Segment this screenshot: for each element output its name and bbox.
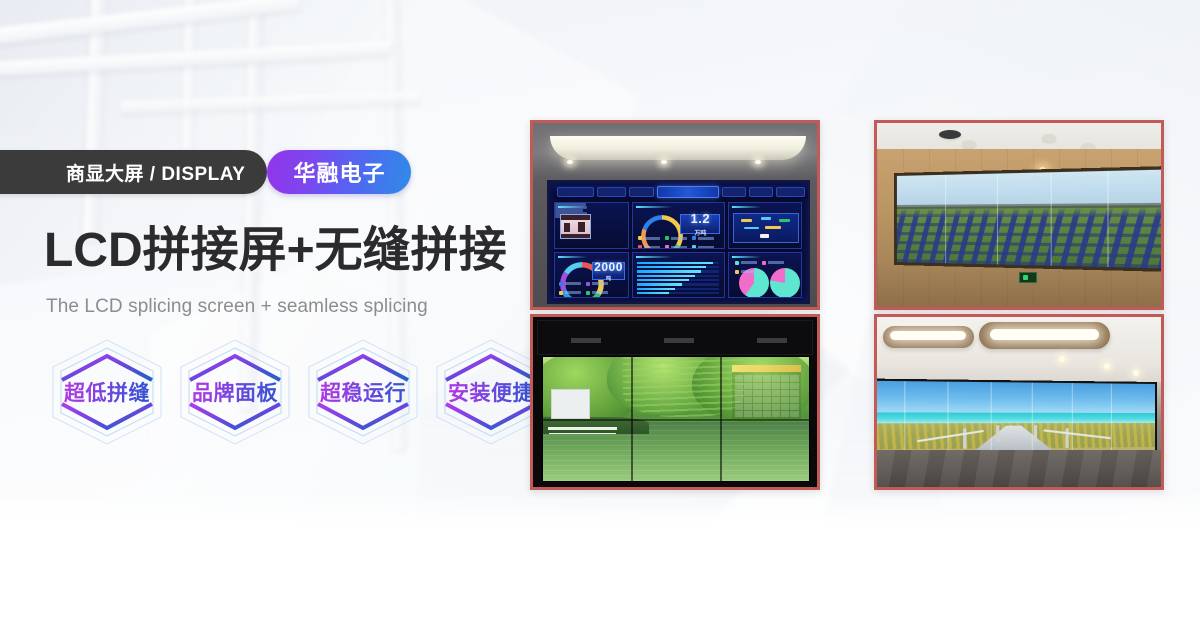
headline-block: 商显大屏 / DISPLAY 华融电子 LCD拼接屏+无缝拼接 The LCD … — [0, 0, 520, 640]
dashboard-topbar — [554, 185, 808, 199]
dashboard-card-info — [554, 202, 628, 248]
photo-willow-lake-wall — [530, 314, 820, 490]
feature-badge: 品牌面板 — [176, 336, 294, 448]
photo-control-room-dashboard: 1.2 万吨 — [530, 120, 820, 310]
dashboard-card-pies — [728, 252, 803, 298]
exit-sign — [1019, 272, 1037, 283]
dashboard-card-kpi-secondary: 2000 吨 — [554, 252, 628, 298]
video-wall-solar — [894, 166, 1161, 273]
dashboard-card-bars — [632, 252, 725, 298]
calendar-overlay — [732, 365, 801, 420]
video-wall-beach — [877, 378, 1156, 461]
product-banner: 商显大屏 / DISPLAY 华融电子 LCD拼接屏+无缝拼接 The LCD … — [0, 0, 1200, 640]
video-wall-lake — [542, 356, 811, 482]
bar-chart — [637, 262, 719, 295]
feature-badge: 超低拼缝 — [48, 336, 166, 448]
photo-beach-boardwalk-wall — [874, 314, 1164, 490]
feature-badge-label: 超低拼缝 — [48, 336, 166, 448]
dashboard-card-flow — [728, 202, 803, 248]
dashboard-card-grid: 1.2 万吨 — [554, 202, 802, 298]
kpi-main: 1.2 万吨 — [680, 214, 720, 234]
brand-tag-primary: 华融电子 — [267, 150, 411, 194]
page-subtitle: The LCD splicing screen + seamless splic… — [46, 296, 428, 318]
feature-badge-label: 超稳运行 — [304, 336, 422, 448]
page-title: LCD拼接屏+无缝拼接 — [44, 227, 507, 275]
feature-badge-label: 品牌面板 — [176, 336, 294, 448]
dashboard-title-bar — [657, 186, 719, 198]
kpi-main-value: 1.2 — [691, 211, 711, 226]
kpi-secondary: 2000 吨 — [592, 262, 626, 280]
feature-badge: 超稳运行 — [304, 336, 422, 448]
photo-wood-room-solar-wall — [874, 120, 1164, 310]
feature-badge-row: 超低拼缝 品牌面板 超稳运行 — [48, 336, 550, 448]
dashboard-card-kpi-main: 1.2 万吨 — [632, 202, 725, 248]
video-wall-top-row — [537, 320, 813, 354]
brand-tag-primary-label: 华融电子 — [293, 156, 385, 188]
brand-tag-secondary-label: 商显大屏 / DISPLAY — [66, 159, 245, 186]
brand-tag-row: 商显大屏 / DISPLAY 华融电子 — [48, 150, 411, 194]
brand-tag-secondary: 商显大屏 / DISPLAY — [0, 150, 267, 194]
dashboard-screen: 1.2 万吨 — [547, 180, 809, 304]
kpi-secondary-value: 2000 — [594, 260, 623, 274]
